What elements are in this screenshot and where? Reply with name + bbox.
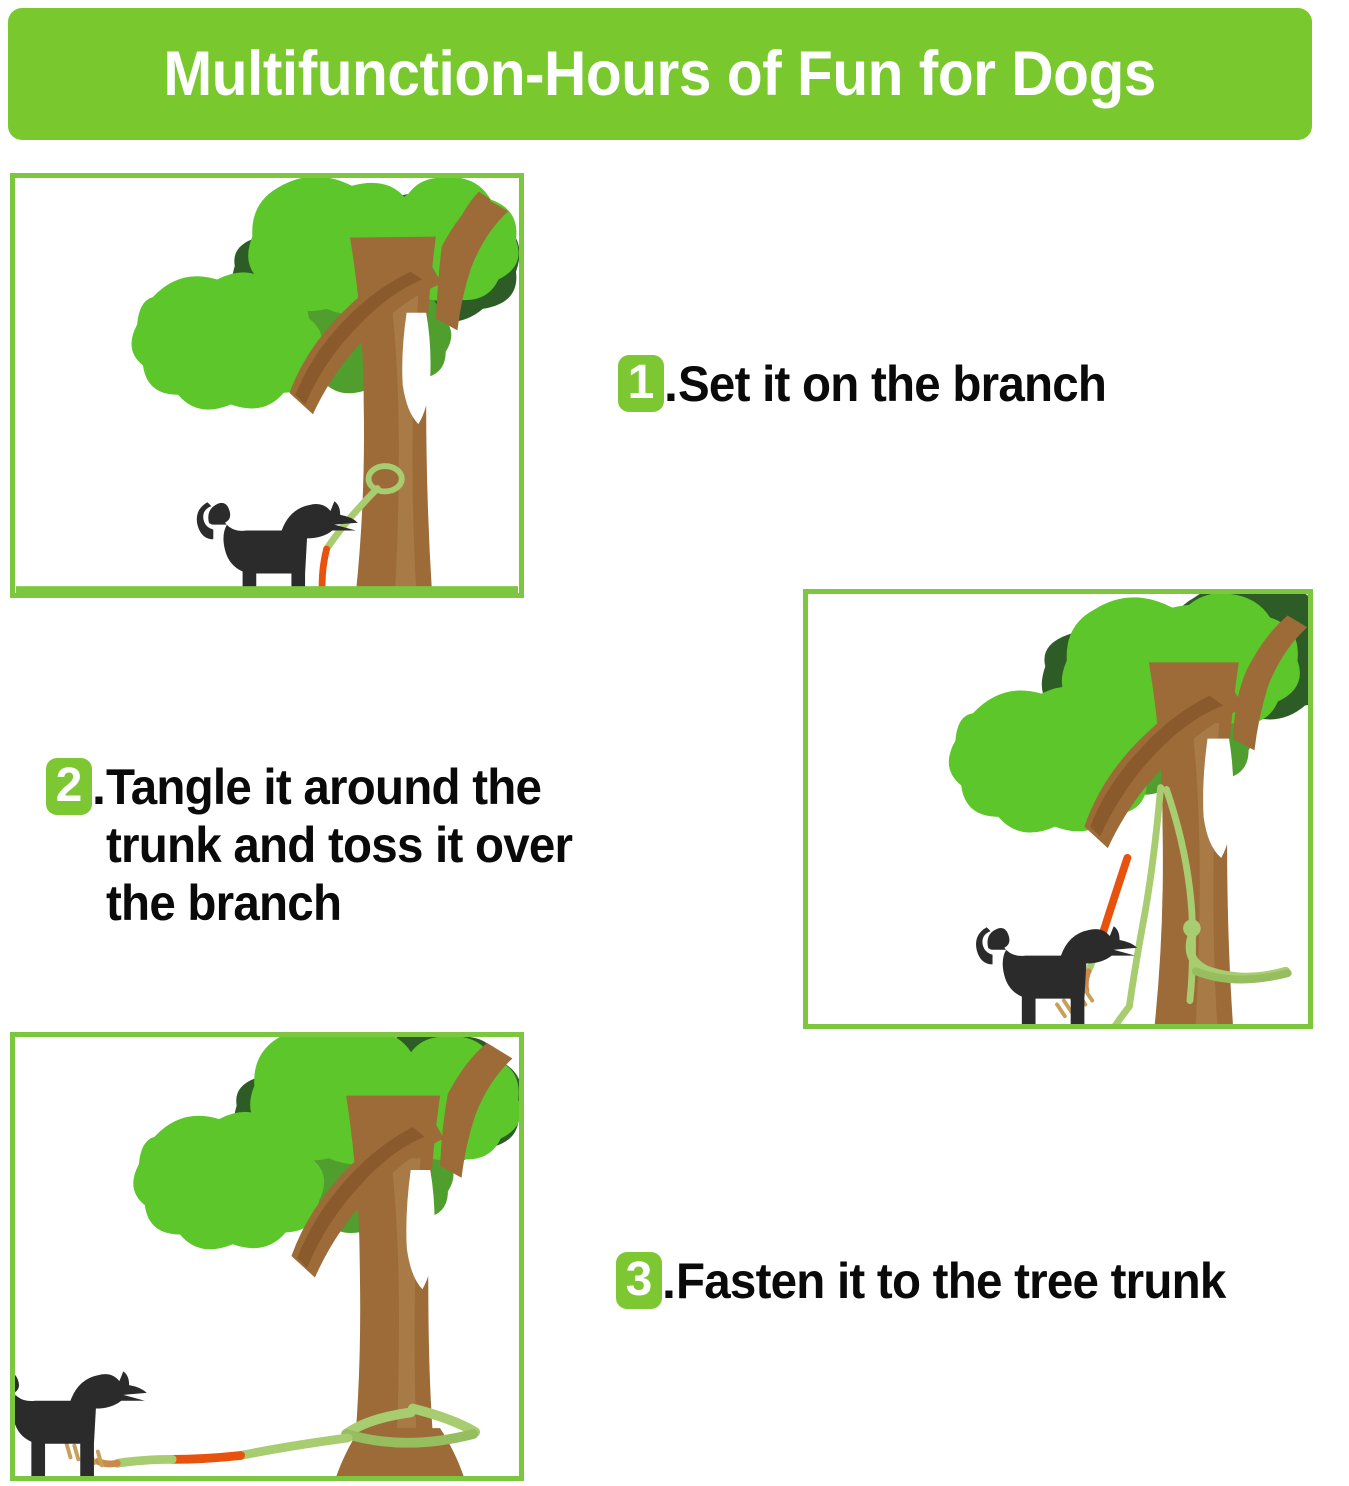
step-3: 3 . Fasten it to the tree trunk — [616, 1252, 1346, 1310]
step-1-label: Set it on the branch — [678, 355, 1106, 413]
step-3-badge: 3 — [616, 1252, 662, 1309]
step-1: 1 . Set it on the branch — [618, 355, 1318, 413]
step-1-separator: . — [664, 355, 678, 413]
step-3-separator: . — [662, 1252, 676, 1310]
dog-silhouette — [197, 501, 358, 593]
step-1-badge: 1 — [618, 355, 664, 412]
step-2-label: Tangle it around the trunk and toss it o… — [106, 758, 572, 932]
header-banner: Multifunction-Hours of Fun for Dogs — [8, 8, 1312, 140]
step-2-illustration — [803, 589, 1313, 1029]
dog-silhouette — [976, 926, 1137, 1024]
step-2-badge: 2 — [46, 758, 92, 815]
page-title: Multifunction-Hours of Fun for Dogs — [164, 43, 1157, 106]
step-3-illustration — [10, 1032, 524, 1481]
step-2: 2 . Tangle it around the trunk and toss … — [46, 758, 706, 932]
ground-line — [16, 586, 518, 593]
step-3-label: Fasten it to the tree trunk — [676, 1252, 1226, 1310]
step-2-separator: . — [92, 758, 106, 816]
step-1-illustration — [10, 173, 524, 598]
